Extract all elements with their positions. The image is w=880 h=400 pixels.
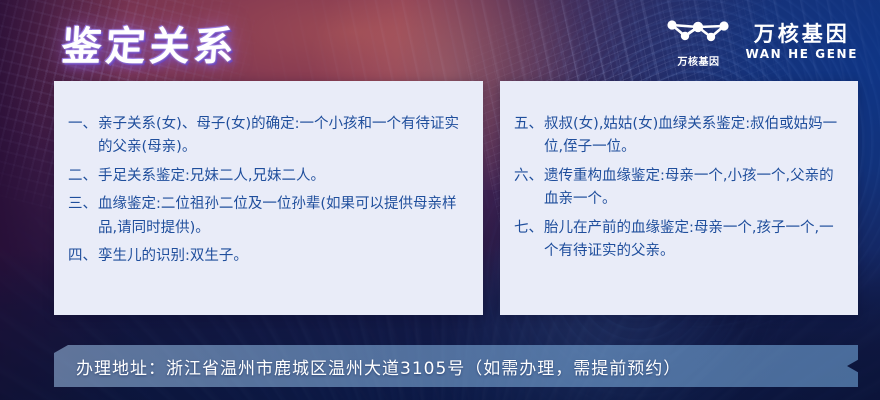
list-item-number: 五、 [514,113,544,136]
list-item: 四、 孪生儿的识别:双生子。 [68,245,469,268]
brand-name-en: WAN HE GENE [745,47,858,61]
list-item-text: 血缘鉴定:二位祖孙二位及一位孙辈(如果可以提供母亲样品,请同时提供)。 [98,193,469,240]
list-item-text: 叔叔(女),姑姑(女)血绿关系鉴定:叔伯或姑妈一位,侄子一位。 [544,113,844,160]
list-item: 六、 遗传重构血缘鉴定:母亲一个,小孩一个,父亲的血亲一个。 [514,165,844,212]
list-item-number: 七、 [514,217,544,240]
list-item: 三、 血缘鉴定:二位祖孙二位及一位孙辈(如果可以提供母亲样品,请同时提供)。 [68,193,469,240]
list-item: 一、 亲子关系(女)、母子(女)的确定:一个小孩和一个有待证实的父亲(母亲)。 [68,113,469,160]
left-panel-list: 一、 亲子关系(女)、母子(女)的确定:一个小孩和一个有待证实的父亲(母亲)。 … [54,81,483,269]
list-item-number: 三、 [68,193,98,216]
molecule-network-icon [665,16,731,50]
list-item-number: 一、 [68,113,98,136]
list-item-number: 四、 [68,245,98,268]
list-item-text: 胎儿在产前的血缘鉴定:母亲一个,孩子一个,一个有待证实的父亲。 [544,217,844,264]
right-panel-list: 五、 叔叔(女),姑姑(女)血绿关系鉴定:叔伯或姑妈一位,侄子一位。 六、 遗传… [500,81,858,264]
list-item-text: 孪生儿的识别:双生子。 [98,245,469,268]
list-item: 七、 胎儿在产前的血缘鉴定:母亲一个,孩子一个,一个有待证实的父亲。 [514,217,844,264]
list-item-number: 六、 [514,165,544,188]
brand-mark: 万核基因 [665,16,731,68]
left-content-panel: 一、 亲子关系(女)、母子(女)的确定:一个小孩和一个有待证实的父亲(母亲)。 … [54,81,483,315]
list-item-text: 亲子关系(女)、母子(女)的确定:一个小孩和一个有待证实的父亲(母亲)。 [98,113,469,160]
poster-canvas: 鉴定关系 [0,0,880,400]
right-content-panel: 五、 叔叔(女),姑姑(女)血绿关系鉴定:叔伯或姑妈一位,侄子一位。 六、 遗传… [500,81,858,315]
page-title: 鉴定关系 [60,14,240,72]
brand-name-cn: 万核基因 [754,23,850,45]
brand-wordmark: 万核基因 WAN HE GENE [745,23,858,61]
brand-mark-label: 万核基因 [677,53,719,68]
address-banner: 办理地址：浙江省温州市鹿城区温州大道3105号（如需办理，需提前预约） [54,345,858,387]
list-item-text: 手足关系鉴定:兄妹二人,兄妹二人。 [98,165,469,188]
list-item: 五、 叔叔(女),姑姑(女)血绿关系鉴定:叔伯或姑妈一位,侄子一位。 [514,113,844,160]
list-item: 二、 手足关系鉴定:兄妹二人,兄妹二人。 [68,165,469,188]
list-item-text: 遗传重构血缘鉴定:母亲一个,小孩一个,父亲的血亲一个。 [544,165,844,212]
list-item-number: 二、 [68,165,98,188]
address-banner-text: 办理地址：浙江省温州市鹿城区温州大道3105号（如需办理，需提前预约） [54,354,681,379]
brand-logo: 万核基因 万核基因 WAN HE GENE [665,16,858,68]
